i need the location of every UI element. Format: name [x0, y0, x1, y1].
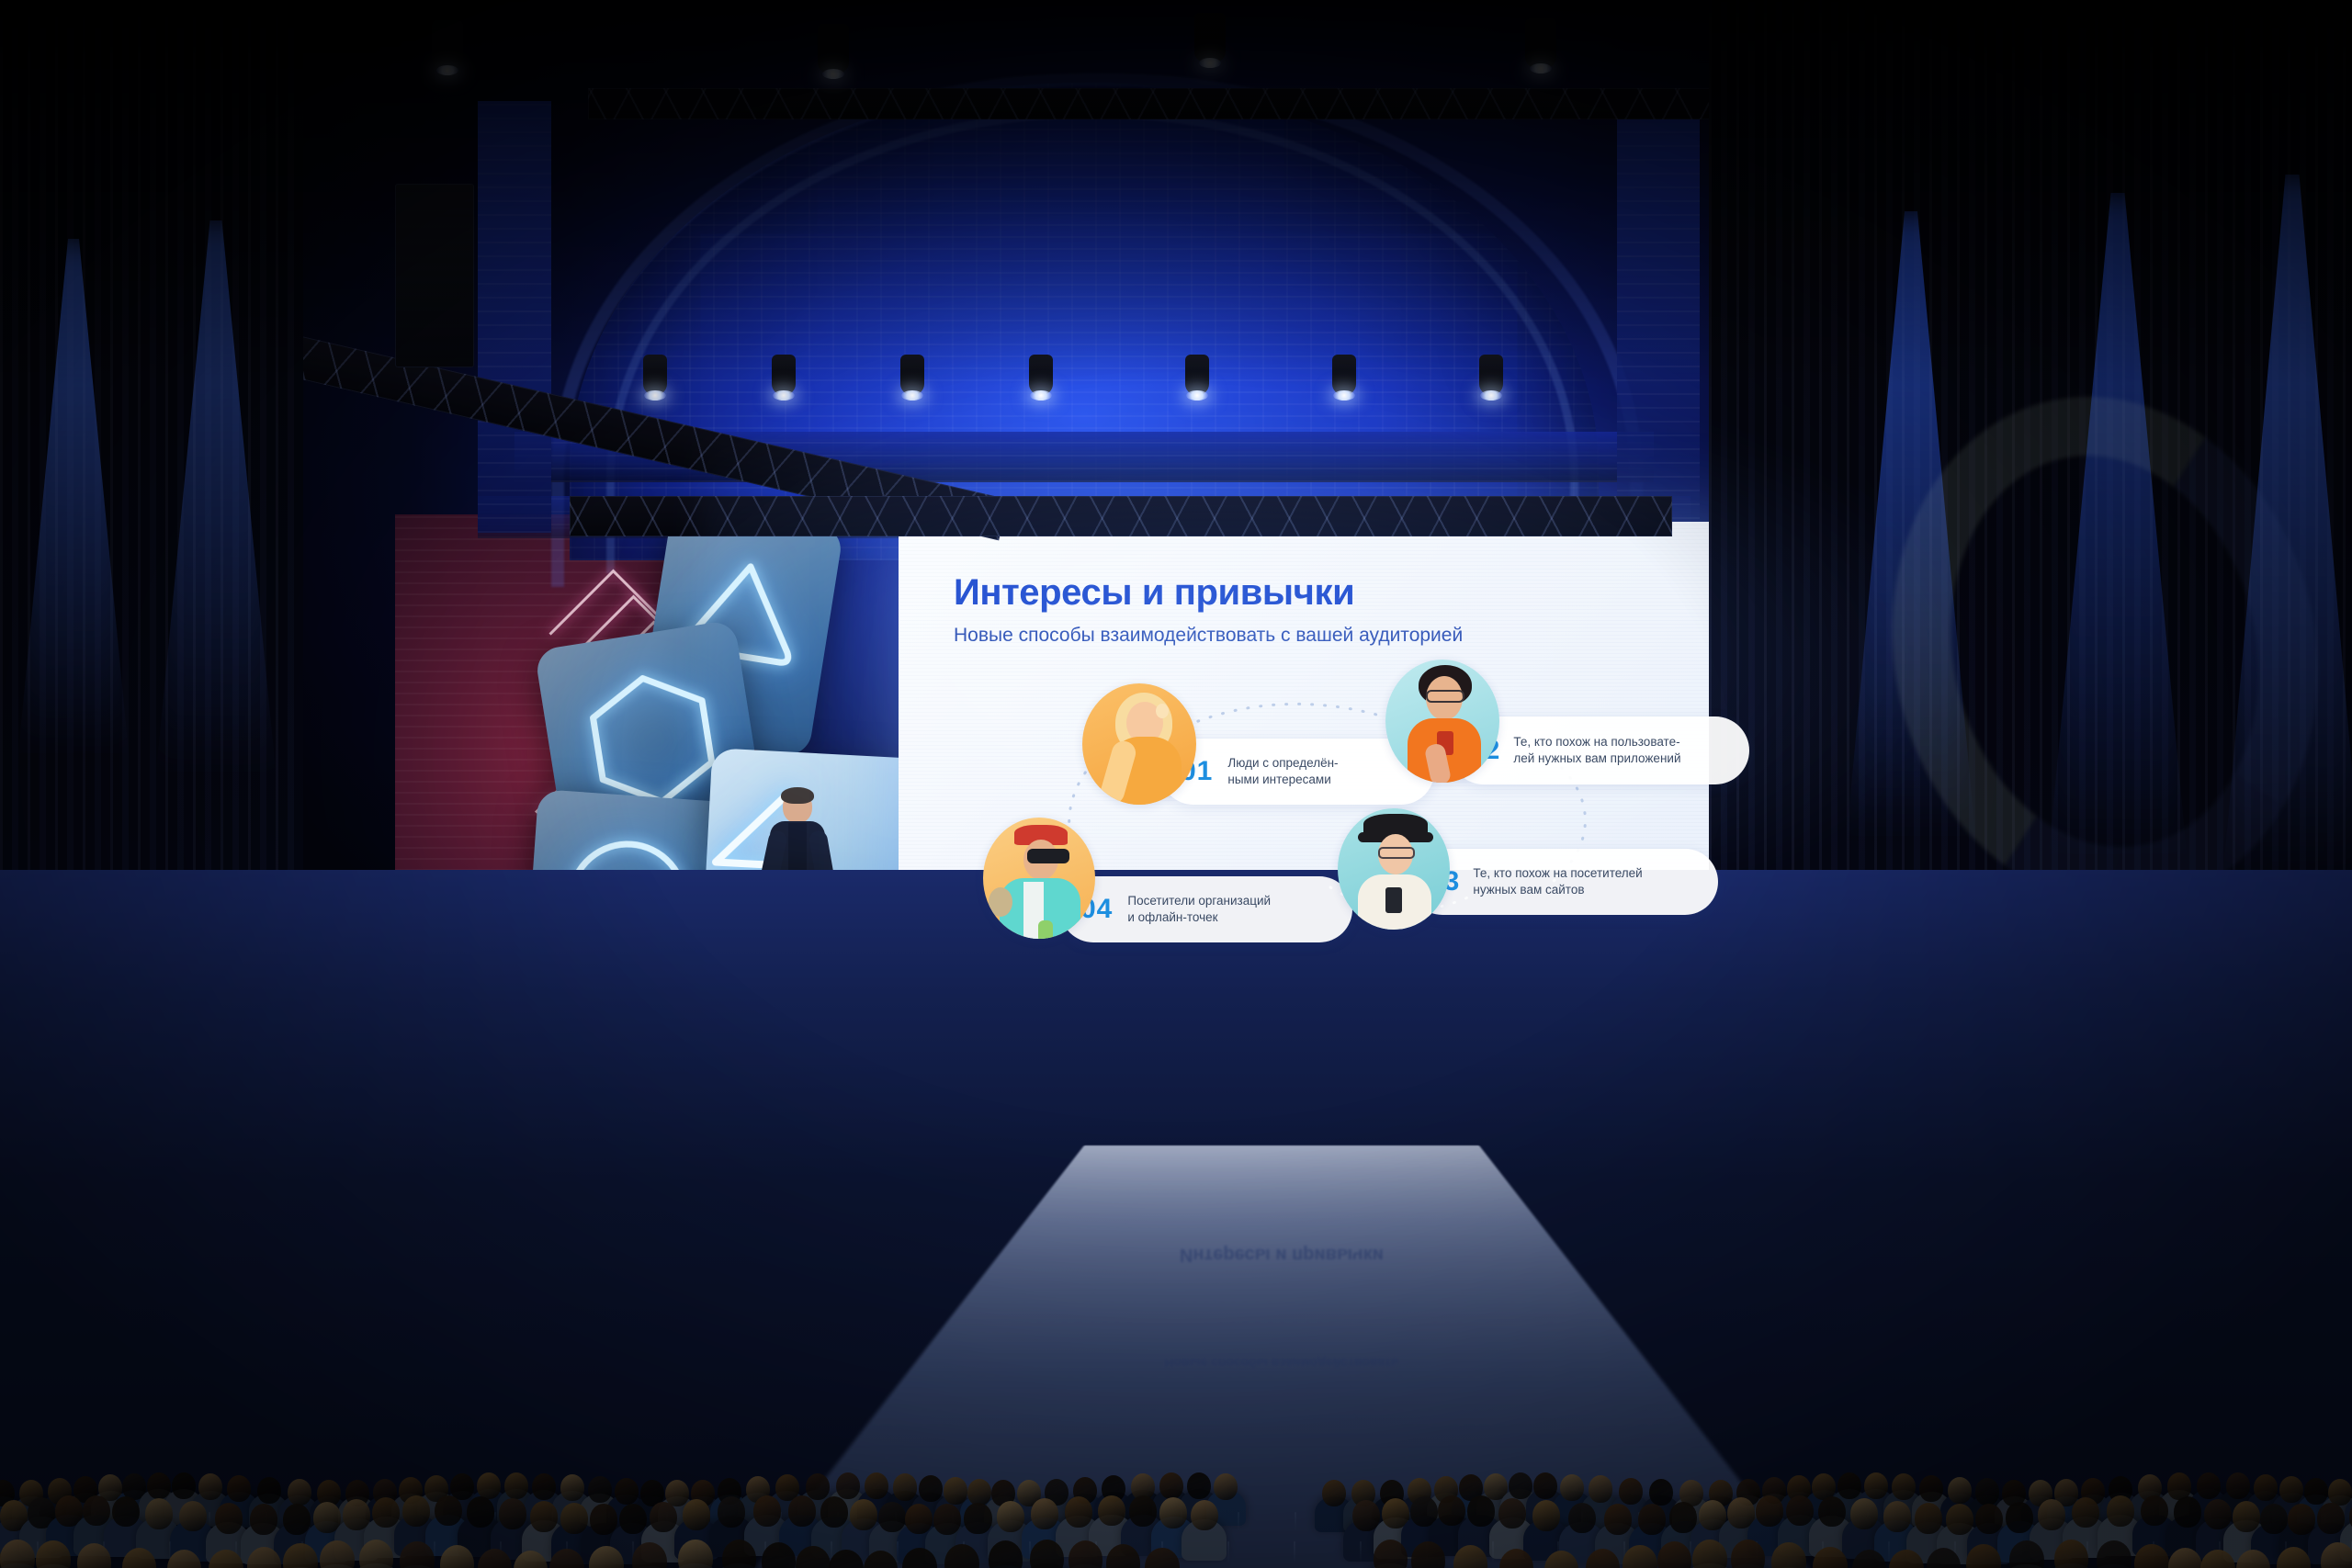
audience-person-head	[1864, 1472, 1888, 1499]
chair-highlight	[1492, 1541, 1494, 1563]
audience-person-head	[806, 1473, 830, 1500]
slide-item-04-text: Посетители организаций и офлайн-точек	[1127, 893, 1271, 926]
audience-person-head	[504, 1472, 528, 1499]
audience-person-head	[718, 1496, 745, 1528]
audience-person-head	[1568, 1503, 1596, 1534]
chair-highlight	[1295, 1512, 1296, 1531]
audience-person-head	[1191, 1500, 1218, 1531]
audience-person-head	[1975, 1478, 1999, 1505]
audience-person-head	[619, 1504, 647, 1535]
audience-person-head	[1129, 1495, 1157, 1527]
audience-person-head	[1638, 1504, 1666, 1535]
audience-person-head	[964, 1503, 991, 1534]
audience-person-head	[1604, 1504, 1632, 1535]
audience-person-head	[836, 1472, 860, 1499]
stage-par-light-3	[900, 355, 924, 395]
chair-highlight	[897, 1541, 899, 1563]
audience-person-head	[1159, 1497, 1187, 1529]
line-array-speaker-left	[395, 184, 474, 367]
audience-person-head	[865, 1472, 888, 1499]
audience-person-head	[1498, 1498, 1526, 1529]
audience-person-head	[615, 1478, 639, 1505]
audience-person-head	[560, 1503, 588, 1534]
audience-person-head	[257, 1477, 281, 1504]
audience-person-head	[893, 1473, 917, 1500]
audience-person-head	[2279, 1476, 2303, 1503]
audience-person-head	[402, 1495, 430, 1527]
audience-person-head	[288, 1479, 311, 1506]
audience-person-head	[2254, 1474, 2278, 1501]
stage-par-light-5	[1185, 355, 1209, 395]
audience-person-head	[919, 1475, 943, 1502]
audience-person-head	[215, 1503, 243, 1534]
audience-person-head	[1649, 1479, 1673, 1506]
stage-par-light-2	[772, 355, 796, 395]
audience-person-head	[530, 1501, 558, 1532]
moving-head-light-2	[432, 20, 463, 70]
audience-person-head	[683, 1499, 710, 1530]
audience-person-head	[2317, 1503, 2345, 1534]
audience-person-head	[753, 1495, 781, 1527]
moving-head-light-3	[818, 24, 849, 73]
audience-person-head	[1589, 1475, 1612, 1502]
stage-par-light-7	[1479, 355, 1503, 395]
audience-person-head	[227, 1475, 251, 1502]
audience-person-head	[2226, 1472, 2250, 1499]
slide-canvas: Интересы и привычки Новые способы взаимо…	[899, 522, 1755, 981]
chair-highlight	[1360, 1541, 1362, 1563]
audience-person-head	[788, 1495, 816, 1527]
audience-person-head	[1159, 1472, 1183, 1499]
moving-head-light-4	[1194, 13, 1226, 62]
stage-par-light-1	[643, 355, 667, 395]
audience-person-head	[905, 1504, 933, 1535]
audience-person-head	[1438, 1495, 1465, 1527]
slide-item-01-text: Люди с определён- ными интересами	[1227, 755, 1338, 788]
chair-highlight	[1227, 1541, 1229, 1563]
stage-par-light-6	[1332, 355, 1356, 395]
audience-person-head	[997, 1501, 1024, 1532]
audience-person-head	[172, 1472, 196, 1499]
moving-head-light-5	[1525, 18, 1556, 68]
audience-person-head	[2038, 1499, 2065, 1530]
audience-person-head	[850, 1499, 877, 1530]
chair-highlight	[1238, 1512, 1239, 1531]
audience-person-head	[2204, 1499, 2232, 1530]
audience-person-head	[1467, 1495, 1495, 1527]
audience-person-head	[250, 1504, 277, 1535]
audience-person-head	[1975, 1504, 2003, 1535]
audience-person-head	[1619, 1478, 1643, 1505]
audience-person-head	[1850, 1498, 1878, 1529]
audience-person-head	[477, 1472, 501, 1499]
led-presentation-screen: Интересы и привычки Новые способы взаимо…	[899, 522, 1755, 981]
audience-person-head	[2167, 1472, 2191, 1499]
audience-person-head	[1098, 1495, 1125, 1527]
audience-person-head	[933, 1504, 961, 1535]
audience-person-head	[878, 1502, 906, 1533]
audience-person-head	[2288, 1504, 2315, 1535]
audience-person-head	[83, 1495, 110, 1527]
audience-person-head	[1837, 1472, 1861, 1499]
slide-item-02-text: Те, кто похож на пользовате- лей нужных …	[1513, 734, 1680, 767]
audience-person-head	[198, 1473, 222, 1500]
brick-pillar-right	[1617, 101, 1700, 533]
woman-with-headphones-photo	[1082, 683, 1196, 805]
audience-person-head	[588, 1476, 612, 1503]
audience-person-head	[2072, 1497, 2099, 1529]
stage-par-light-4	[1029, 355, 1053, 395]
audience-person-head	[1919, 1475, 1943, 1502]
audience-person-head	[1915, 1503, 1942, 1534]
audience-person-head	[145, 1498, 173, 1529]
audience-person-head	[820, 1496, 848, 1528]
man-with-phone-photo	[1385, 660, 1499, 783]
chair-highlight	[1294, 1541, 1295, 1563]
audience-person-head	[112, 1496, 140, 1528]
audience-person-head	[1786, 1495, 1814, 1527]
slide-item-03-text: Те, кто похож на посетителей нужных вам …	[1473, 865, 1642, 898]
audience-person-head	[1532, 1500, 1560, 1531]
audience-person-head	[560, 1474, 584, 1501]
audience-person-head	[1946, 1504, 1973, 1535]
audience-person-head	[1560, 1474, 1584, 1501]
conference-photo-scene: Интересы и привычки Новые способы взаимо…	[0, 0, 2352, 1568]
audience-person-head	[1187, 1472, 1211, 1499]
audience-person-head	[532, 1473, 556, 1500]
audience-person-head	[467, 1496, 494, 1528]
slide-item-04-pill: 04 Посетители организаций и офлайн-точек	[1060, 876, 1352, 942]
audience-person-head	[1756, 1495, 1783, 1527]
elderly-woman-with-phone-photo	[1338, 808, 1450, 930]
audience-person-head	[1948, 1477, 1972, 1504]
audience-person-head	[1214, 1473, 1238, 1500]
audience-person-head	[590, 1504, 617, 1535]
audience-person-head	[435, 1495, 462, 1527]
audience-person-head	[372, 1497, 400, 1529]
audience-person-head	[944, 1477, 967, 1504]
audience-person-head	[2141, 1495, 2168, 1527]
brick-pillar-left	[478, 101, 551, 533]
audience-person-head	[2006, 1502, 2033, 1533]
audience-person-head	[499, 1498, 526, 1529]
audience-person-head	[2097, 1540, 2131, 1568]
audience-person-head	[2107, 1495, 2134, 1527]
audience-person-head	[1533, 1472, 1557, 1499]
audience-person-head	[1818, 1496, 1846, 1528]
audience-person-head	[1509, 1472, 1532, 1499]
audience-person-head	[2233, 1501, 2260, 1532]
audience-person-head	[1892, 1473, 1916, 1500]
audience-person-head	[1883, 1501, 1911, 1532]
audience-person-head	[147, 1472, 171, 1499]
audience-crowd	[0, 907, 2352, 1568]
audience-person-head	[2197, 1472, 2221, 1499]
audience-person-head	[1322, 1480, 1346, 1506]
audience-person-head	[650, 1502, 677, 1533]
audience-person-head	[179, 1501, 207, 1532]
audience-person-head	[1065, 1496, 1092, 1528]
audience-person-head	[283, 1504, 311, 1535]
slide-item-03-pill: 03 Те, кто похож на посетителей нужных в…	[1409, 849, 1718, 915]
audience-person-head	[1031, 1498, 1058, 1529]
audience-person-head	[2174, 1496, 2201, 1528]
woman-with-binoculars-photo	[983, 818, 1095, 939]
